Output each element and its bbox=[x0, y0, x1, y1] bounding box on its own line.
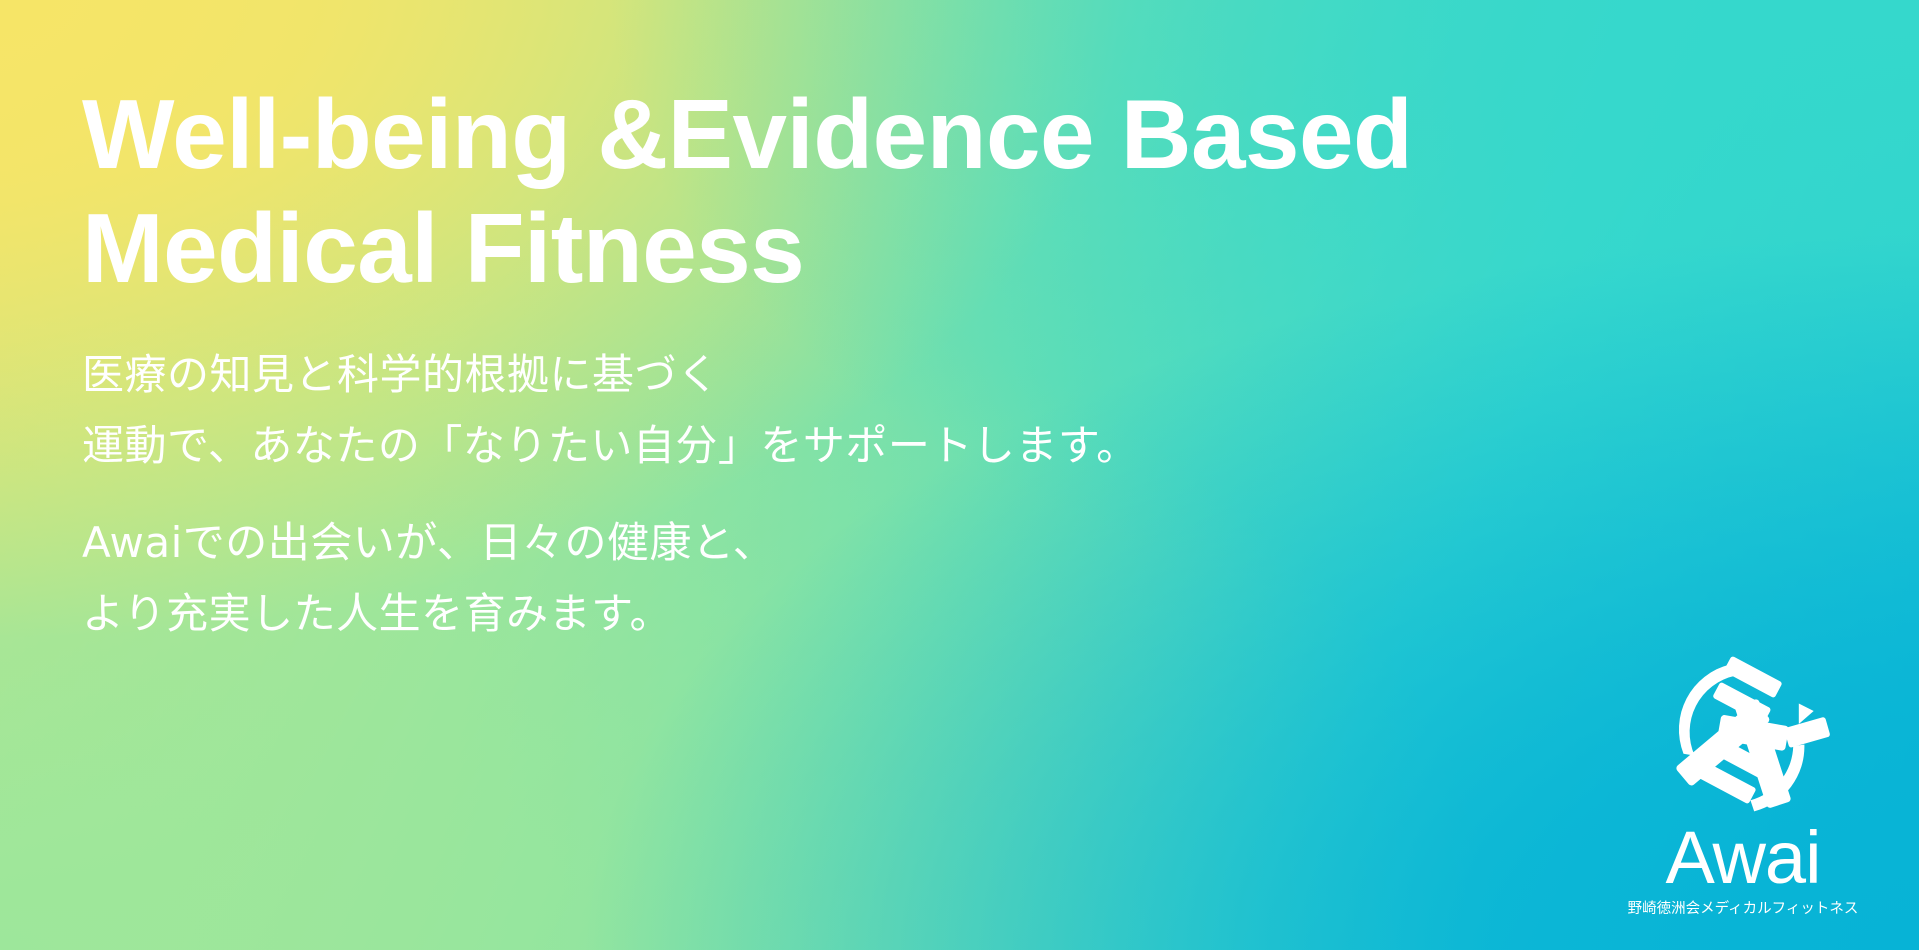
lead-copy-line-1: 医療の知見と科学的根拠に基づく bbox=[82, 340, 1382, 411]
awai-woven-circle-icon bbox=[1650, 644, 1836, 830]
hero-banner: Well-being &Evidence Based Medical Fitne… bbox=[0, 0, 1919, 950]
secondary-copy-line-1: Awaiでの出会いが、日々の健康と、 bbox=[82, 508, 1382, 579]
secondary-copy-line-2: より充実した人生を育みます。 bbox=[82, 579, 1382, 650]
headline-line-2: Medical Fitness bbox=[82, 192, 1542, 306]
headline-line-1: Well-being &Evidence Based bbox=[82, 78, 1542, 192]
page-title: Well-being &Evidence Based Medical Fitne… bbox=[82, 78, 1542, 305]
lead-copy-line-2: 運動で、あなたの「なりたい自分」をサポートします。 bbox=[82, 411, 1382, 482]
lead-copy-block: 医療の知見と科学的根拠に基づく 運動で、あなたの「なりたい自分」をサポートします… bbox=[82, 340, 1382, 481]
logo-lockup[interactable]: Awai 野崎徳洲会メディカルフィットネス bbox=[1627, 644, 1859, 918]
logo-tagline: 野崎徳洲会メディカルフィットネス bbox=[1628, 897, 1859, 918]
secondary-copy-block: Awaiでの出会いが、日々の健康と、 より充実した人生を育みます。 bbox=[82, 508, 1382, 649]
logo-wordmark: Awai bbox=[1665, 824, 1820, 892]
